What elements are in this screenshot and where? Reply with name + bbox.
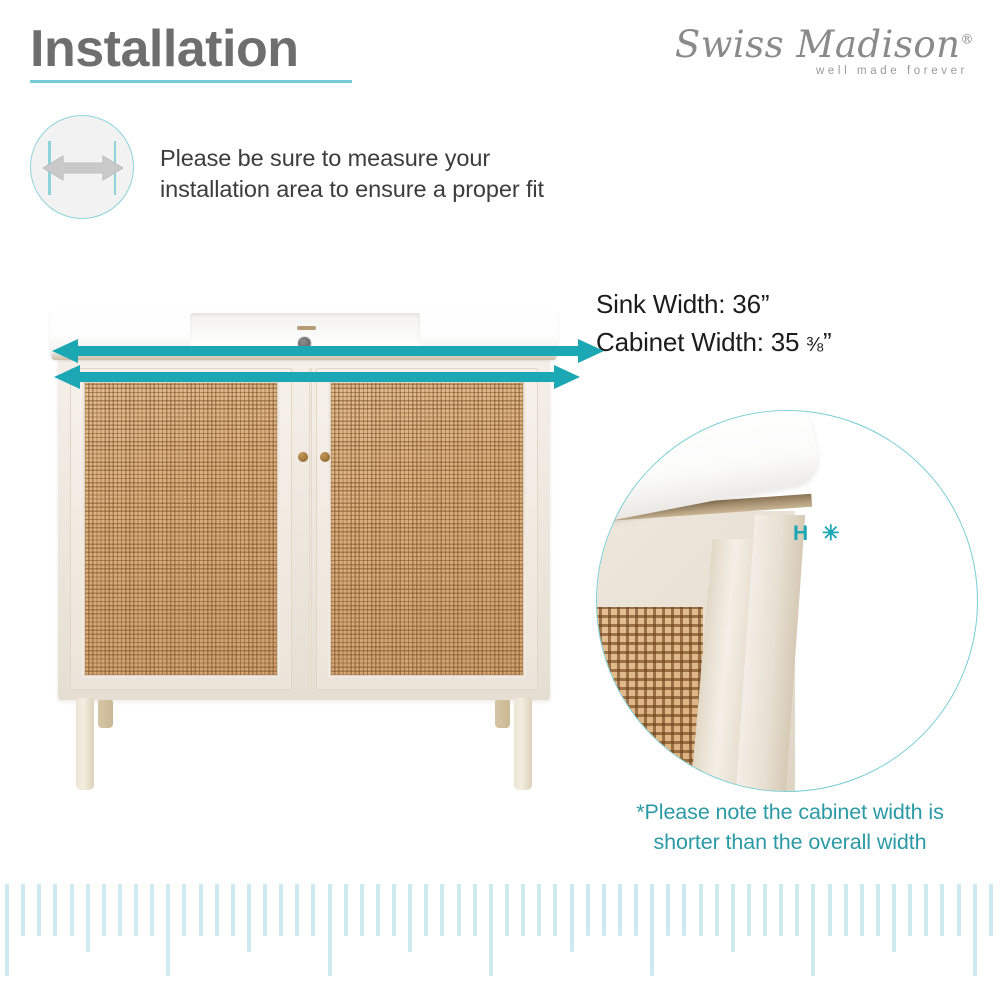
door-seam xyxy=(309,368,312,690)
cabinet-door-right xyxy=(316,368,538,690)
leg-front-right xyxy=(514,698,532,790)
brand-name-text: Swiss Madison xyxy=(675,23,961,66)
brand-logo: Swiss Madison® well made forever xyxy=(674,26,974,77)
ruler-tick xyxy=(328,884,332,976)
ruler-tick xyxy=(166,884,170,976)
ruler-tick xyxy=(844,884,848,936)
ruler-tick xyxy=(457,884,461,936)
ruler-tick xyxy=(473,884,477,936)
ruler-tick xyxy=(586,884,590,936)
ruler-tick xyxy=(424,884,428,936)
ruler-tick xyxy=(924,884,928,936)
ruler-tick xyxy=(344,884,348,936)
ruler-tick xyxy=(650,884,654,976)
overhang-dimension-marker: H ✳ xyxy=(793,523,844,544)
ruler-tick xyxy=(505,884,509,936)
rattan-panel-left xyxy=(82,380,280,678)
cabinet-width-unit: ” xyxy=(823,327,831,357)
ruler-tick xyxy=(795,884,799,936)
cabinet-door-left xyxy=(70,368,292,690)
ruler-tick xyxy=(118,884,122,936)
cabinet-width-label: Cabinet Width: 35 ⅜” xyxy=(596,324,986,362)
ruler-tick xyxy=(53,884,57,936)
ruler-tick xyxy=(199,884,203,936)
measure-arrow-icon xyxy=(30,115,134,219)
ruler-tick xyxy=(311,884,315,936)
vanity-product-image xyxy=(44,300,564,800)
overflow-slot xyxy=(297,326,316,330)
leg-back-right xyxy=(495,700,510,728)
ruler-tick xyxy=(763,884,767,936)
leg-back-left xyxy=(98,700,113,728)
cabinet-width-footnote: *Please note the cabinet width is shorte… xyxy=(594,798,986,857)
cabinet-width-fraction: ⅜ xyxy=(806,334,823,356)
ruler-tick xyxy=(37,884,41,936)
double-arrow-icon xyxy=(43,154,123,182)
page-title: Installation xyxy=(30,22,352,77)
ruler-tick xyxy=(715,884,719,936)
cabinet-width-prefix: Cabinet Width: 35 xyxy=(596,327,806,357)
cabinet-corner-detail-inset: H ✳ xyxy=(596,410,978,792)
ruler-tick xyxy=(295,884,299,936)
ruler-tick xyxy=(376,884,380,936)
ruler-tick xyxy=(618,884,622,936)
ruler-tick xyxy=(489,884,493,976)
ruler-tick xyxy=(570,884,574,952)
ruler-tick xyxy=(392,884,396,936)
brand-tagline: well made forever xyxy=(674,65,974,77)
ruler-tick xyxy=(666,884,670,936)
footnote-line-1: *Please note the cabinet width is xyxy=(594,798,986,828)
ruler-tick xyxy=(21,884,25,936)
ruler-tick xyxy=(5,884,9,976)
measure-note-text: Please be sure to measure your installat… xyxy=(160,143,590,205)
ruler-tick xyxy=(231,884,235,936)
ruler-tick xyxy=(553,884,557,936)
ruler-tick xyxy=(828,884,832,936)
brand-name: Swiss Madison® xyxy=(674,26,974,63)
ruler-tick xyxy=(682,884,686,936)
leg-front-left xyxy=(76,698,94,790)
ruler-tick xyxy=(876,884,880,936)
ruler-tick xyxy=(263,884,267,936)
ruler-tick xyxy=(150,884,154,936)
door-knob-left xyxy=(298,452,308,462)
ruler-tick xyxy=(634,884,638,936)
cabinet-width-arrow xyxy=(54,362,580,392)
cabinet-body xyxy=(58,360,550,700)
ruler-tick xyxy=(134,884,138,936)
detail-rattan-panel xyxy=(596,607,703,792)
ruler-tick xyxy=(70,884,74,936)
ruler-tick xyxy=(602,884,606,936)
ruler-tick xyxy=(811,884,815,976)
installation-infographic: Installation Swiss Madison® well made fo… xyxy=(0,0,1000,1000)
ruler-tick xyxy=(779,884,783,936)
ruler-tick xyxy=(102,884,106,936)
footnote-line-2: shorter than the overall width xyxy=(594,828,986,858)
ruler-tick xyxy=(521,884,525,936)
ruler-tick xyxy=(247,884,251,952)
ruler-tick xyxy=(892,884,896,952)
ruler-tick xyxy=(731,884,735,952)
ruler-tick xyxy=(279,884,283,936)
ruler-decoration xyxy=(0,884,1000,1000)
ruler-tick xyxy=(440,884,444,936)
ruler-tick xyxy=(699,884,703,936)
ruler-tick xyxy=(537,884,541,936)
ruler-tick xyxy=(360,884,364,936)
title-underline xyxy=(30,80,352,83)
ruler-tick xyxy=(408,884,412,952)
ruler-tick xyxy=(86,884,90,952)
ruler-tick xyxy=(182,884,186,936)
ruler-tick xyxy=(215,884,219,936)
ruler-tick xyxy=(973,884,977,976)
registered-trademark-icon: ® xyxy=(961,33,975,48)
ruler-tick xyxy=(989,884,993,936)
dimension-labels: Sink Width: 36” Cabinet Width: 35 ⅜” xyxy=(596,286,986,361)
ruler-tick xyxy=(747,884,751,936)
sink-width-label: Sink Width: 36” xyxy=(596,286,986,324)
ruler-tick xyxy=(957,884,961,936)
door-knob-right xyxy=(320,452,330,462)
ruler-tick xyxy=(860,884,864,936)
ruler-tick xyxy=(940,884,944,936)
rattan-panel-right xyxy=(328,380,526,678)
title-block: Installation xyxy=(30,22,352,83)
ruler-tick xyxy=(908,884,912,936)
